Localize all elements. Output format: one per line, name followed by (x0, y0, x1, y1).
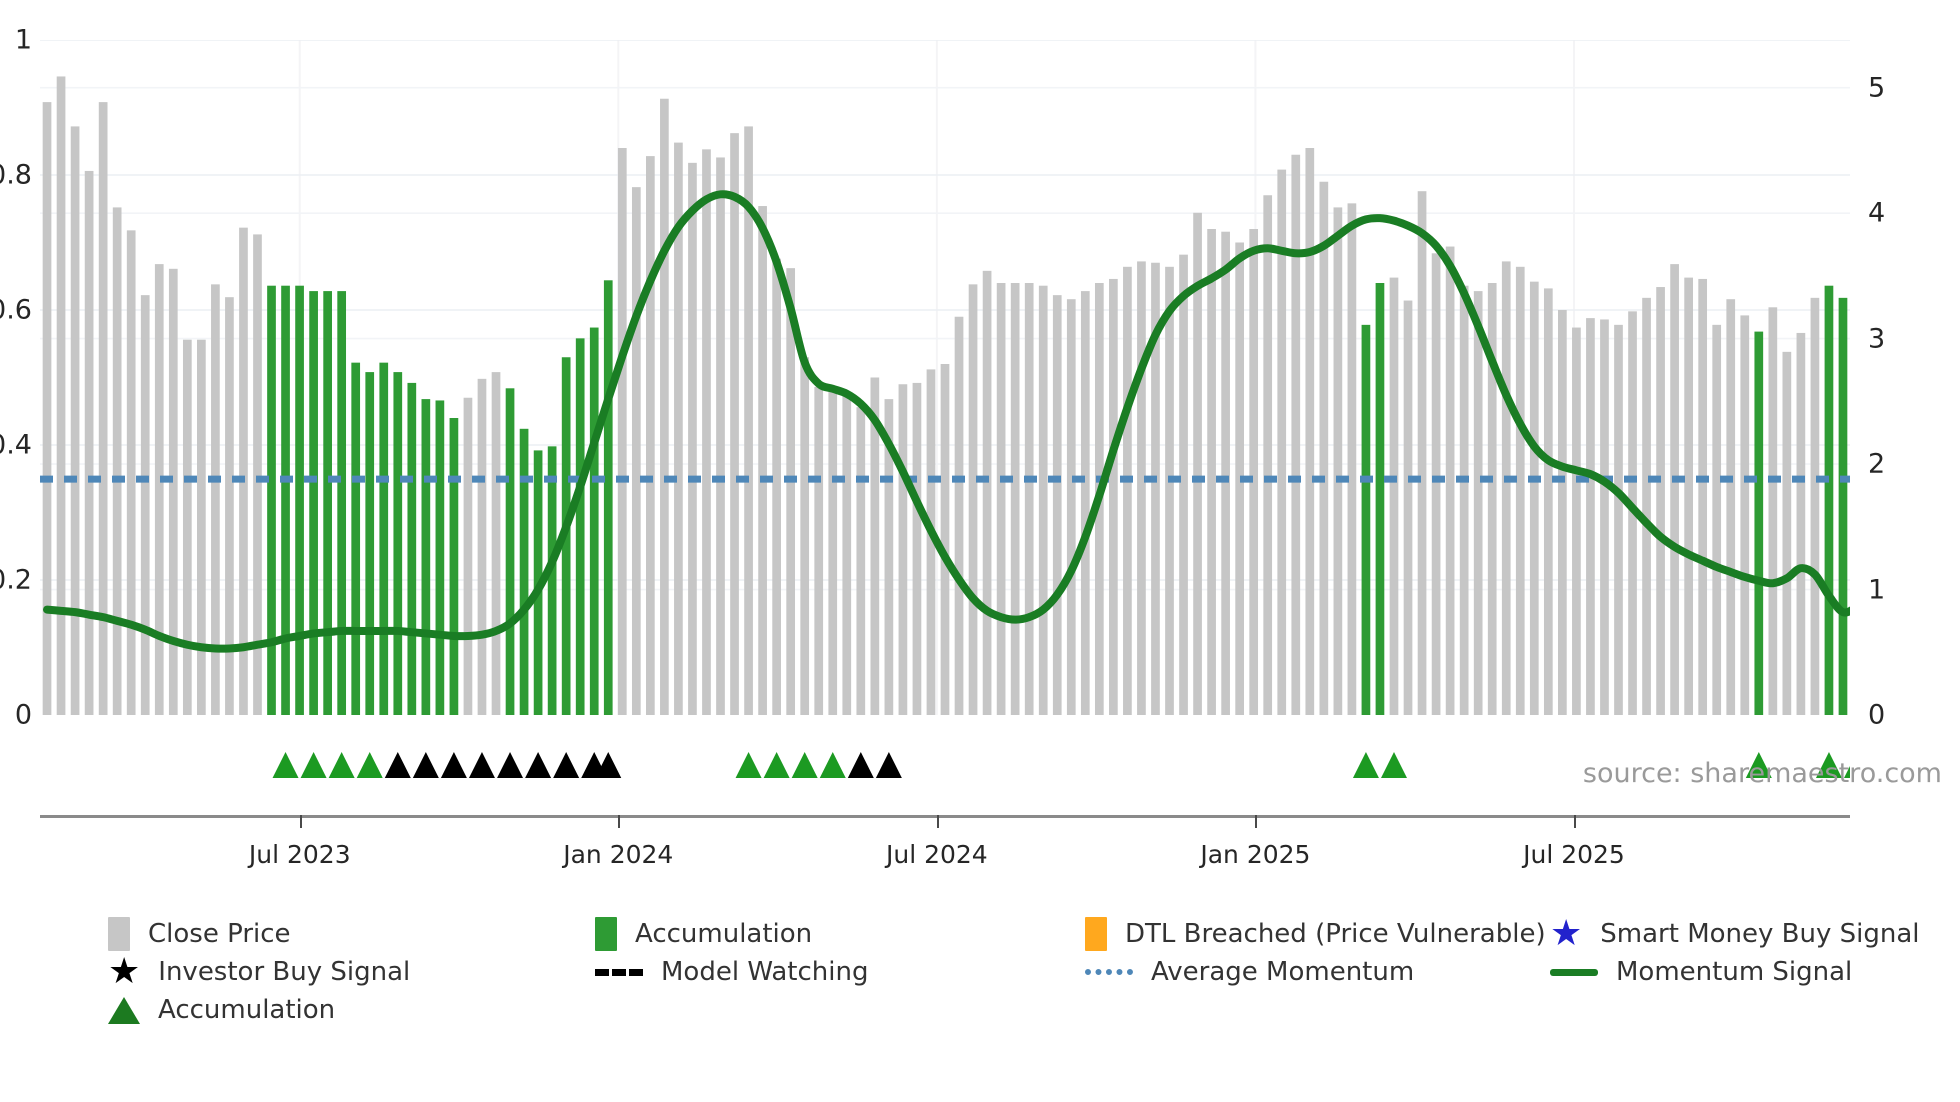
close-price-bar (1740, 315, 1749, 715)
close-price-bar (1460, 286, 1469, 715)
close-price-bar (730, 133, 739, 715)
right-axis-tick-label: 1 (1868, 574, 1885, 605)
close-price-bar (1544, 288, 1553, 715)
right-axis-tick-label: 4 (1868, 198, 1885, 229)
close-price-bar (239, 228, 248, 715)
accumulation-bar (576, 338, 585, 715)
close-price-bar (1025, 283, 1034, 715)
close-price-bar (1726, 299, 1735, 715)
accumulation-bar (1754, 332, 1763, 715)
close-price-bar (1418, 191, 1427, 715)
close-price-bar (141, 295, 150, 715)
close-price-bars (43, 76, 1848, 715)
investor-buy-signal-marker (876, 752, 902, 778)
legend-swatch-star-icon: ★ (1550, 919, 1582, 949)
close-price-bar (688, 163, 697, 715)
close-price-bar (478, 379, 487, 715)
close-price-bar (1179, 255, 1188, 715)
close-price-bar (1109, 279, 1118, 715)
accumulation-bar (393, 372, 402, 715)
left-axis-tick-label: 1 (15, 25, 32, 56)
accumulation-bar (590, 328, 599, 715)
legend-item-accumulation[interactable]: Accumulation (108, 991, 335, 1029)
close-price-bar (758, 206, 767, 715)
investor-buy-signal-marker (848, 752, 874, 778)
investor-buy-signal-marker (413, 752, 439, 778)
accumulation-triangle-marker (1353, 752, 1379, 778)
legend-item-label: Accumulation (635, 919, 812, 949)
accumulation-bar (407, 383, 416, 715)
accumulation-bar (1362, 325, 1371, 715)
accumulation-bar (604, 280, 613, 715)
accumulation-triangle-marker (273, 752, 299, 778)
close-price-bar (1768, 307, 1777, 715)
close-price-bar (1586, 318, 1595, 715)
chart-plot-area (40, 40, 1850, 715)
accumulation-triangle-marker (820, 752, 846, 778)
legend-swatch-bar-icon (595, 917, 617, 951)
legend-swatch-triangle-icon (108, 997, 140, 1024)
accumulation-bar (295, 286, 304, 715)
legend-item-model-watching[interactable]: Model Watching (595, 953, 868, 991)
x-axis-tick (300, 815, 302, 828)
left-axis-tick-label: 0.4 (0, 430, 32, 461)
close-price-bar (71, 126, 80, 715)
close-price-bar (969, 284, 978, 715)
investor-buy-signal-marker (553, 752, 579, 778)
close-price-bar (1081, 291, 1090, 715)
legend-swatch-bar-icon (1085, 917, 1107, 951)
close-price-bar (1811, 298, 1820, 715)
accumulation-bar (422, 399, 431, 715)
x-axis-tick (1574, 815, 1576, 828)
close-price-bar (492, 372, 501, 715)
legend-swatch-bar-icon (108, 917, 130, 951)
legend-item-label: Smart Money Buy Signal (1600, 919, 1919, 949)
legend-item-close-price[interactable]: Close Price (108, 915, 291, 953)
investor-buy-signal-marker (525, 752, 551, 778)
close-price-bar (1221, 232, 1230, 715)
close-price-bar (646, 156, 655, 715)
close-price-bar (828, 387, 837, 715)
accumulation-bar (337, 291, 346, 715)
legend-item-label: Model Watching (661, 957, 868, 987)
legend-item-smart-money-buy-signal[interactable]: ★Smart Money Buy Signal (1550, 915, 1920, 953)
accumulation-bar (323, 291, 332, 715)
right-axis-tick-label: 3 (1868, 323, 1885, 354)
close-price-bar (464, 398, 473, 715)
close-price-bar (1263, 195, 1272, 715)
legend-item-label: Close Price (148, 919, 291, 949)
close-price-bar (1319, 182, 1328, 715)
close-price-bar (772, 259, 781, 715)
left-axis-tick-label: 0 (15, 700, 32, 731)
investor-buy-signal-marker (441, 752, 467, 778)
close-price-bar (997, 283, 1006, 715)
close-price-bar (127, 230, 136, 715)
close-price-bar (983, 271, 992, 715)
x-axis-tick-label: Jan 2025 (1200, 840, 1310, 869)
close-price-bar (1698, 279, 1707, 715)
legend-item-dtl-breached-price-vulnerable[interactable]: DTL Breached (Price Vulnerable) (1085, 915, 1546, 953)
legend-swatch-star-icon: ★ (108, 957, 140, 987)
legend-item-momentum-signal[interactable]: Momentum Signal (1550, 953, 1852, 991)
legend-item-label: Momentum Signal (1616, 957, 1852, 987)
legend-item-label: Average Momentum (1151, 957, 1414, 987)
left-axis-tick-label: 0.8 (0, 160, 32, 191)
close-price-bar (169, 269, 178, 715)
close-price-bar (1600, 319, 1609, 715)
close-price-bar (1502, 261, 1511, 715)
x-axis-tick-label: Jul 2024 (886, 840, 988, 869)
close-price-bar (1011, 283, 1020, 715)
close-price-bar (1067, 299, 1076, 715)
close-price-bar (1797, 333, 1806, 715)
legend-row: ★Investor Buy SignalModel WatchingAverag… (0, 953, 1960, 991)
left-axis-tick-label: 0.6 (0, 295, 32, 326)
close-price-bar (1558, 310, 1567, 715)
close-price-bar (1684, 278, 1693, 715)
close-price-bar (1642, 298, 1651, 715)
close-price-bar (1516, 267, 1525, 715)
chart-legend: Close PriceAccumulationDTL Breached (Pri… (0, 915, 1960, 1029)
investor-buy-signal-marker (497, 752, 523, 778)
close-price-bar (1053, 295, 1062, 715)
right-axis-tick-label: 0 (1868, 700, 1885, 731)
close-price-bar (1305, 148, 1314, 715)
close-price-bar (1390, 278, 1399, 715)
close-price-bar (1530, 282, 1539, 715)
close-price-bar (57, 76, 66, 715)
accumulation-triangle-marker (1381, 752, 1407, 778)
close-price-bar (1137, 261, 1146, 715)
x-axis-tick (937, 815, 939, 828)
close-price-bar (1207, 229, 1216, 715)
close-price-bar (1334, 207, 1343, 715)
x-axis-line (40, 815, 1850, 818)
accumulation-bar (1825, 286, 1834, 715)
close-price-bar (113, 207, 122, 715)
accumulation-bar (548, 446, 557, 715)
close-price-bar (1123, 267, 1132, 715)
close-price-bar (1348, 203, 1357, 715)
close-price-bar (1249, 229, 1258, 715)
investor-buy-signal-marker (469, 752, 495, 778)
accumulation-bar (506, 388, 515, 715)
legend-swatch-dashed-line-icon (595, 969, 643, 976)
source-attribution: source: sharemaestro.com (1583, 758, 1942, 789)
close-price-bar (1670, 264, 1679, 715)
legend-item-label: Investor Buy Signal (158, 957, 410, 987)
legend-row: Close PriceAccumulationDTL Breached (Pri… (0, 915, 1960, 953)
close-price-bar (1783, 352, 1792, 715)
legend-row: Accumulation (0, 991, 1960, 1029)
accumulation-bar (436, 400, 445, 715)
legend-item-label: Accumulation (158, 995, 335, 1025)
close-price-bar (1404, 301, 1413, 715)
chart-page: 00.20.40.60.81 012345 Jul 2023Jan 2024Ju… (0, 0, 1960, 1102)
x-axis-tick (1255, 815, 1257, 828)
close-price-bar (85, 171, 94, 715)
right-axis-tick-label: 5 (1868, 72, 1885, 103)
close-price-bar (1039, 286, 1048, 715)
close-price-bar (941, 364, 950, 715)
legend-item-average-momentum[interactable]: Average Momentum (1085, 953, 1414, 991)
accumulation-triangle-marker (329, 752, 355, 778)
close-price-bar (1572, 328, 1581, 715)
close-price-bar (1712, 325, 1721, 715)
close-price-bar (955, 317, 964, 715)
close-price-bar (716, 157, 725, 715)
legend-item-accumulation[interactable]: Accumulation (595, 915, 812, 953)
close-price-bar (1656, 287, 1665, 715)
x-axis-tick (618, 815, 620, 828)
accumulation-bar (520, 429, 529, 715)
accumulation-bar (450, 418, 459, 715)
legend-item-investor-buy-signal[interactable]: ★Investor Buy Signal (108, 953, 410, 991)
close-price-bar (1446, 247, 1455, 715)
accumulation-marker-row (40, 744, 1850, 784)
accumulation-triangle-marker (736, 752, 762, 778)
close-price-bar (856, 407, 865, 715)
close-price-bar (1614, 325, 1623, 715)
accumulation-bar (281, 286, 290, 715)
legend-swatch-dotted-line-icon (1085, 969, 1133, 975)
close-price-bar (1474, 291, 1483, 715)
accumulation-triangle-marker (792, 752, 818, 778)
close-price-bar (899, 384, 908, 715)
accumulation-triangle-marker (764, 752, 790, 778)
right-axis-tick-label: 2 (1868, 449, 1885, 480)
x-axis-tick-label: Jan 2024 (563, 840, 673, 869)
close-price-bar (660, 99, 669, 715)
x-axis-tick-label: Jul 2023 (249, 840, 351, 869)
x-axis-tick-label: Jul 2025 (1523, 840, 1625, 869)
close-price-bar (1165, 267, 1174, 715)
close-price-bar (1291, 155, 1300, 715)
investor-buy-signal-marker (385, 752, 411, 778)
close-price-bar (800, 357, 809, 715)
accumulation-triangle-marker (357, 752, 383, 778)
close-price-bar (43, 102, 52, 715)
close-price-bar (618, 148, 627, 715)
close-price-bar (702, 149, 711, 715)
accumulation-bar (365, 372, 374, 715)
accumulation-bar (1376, 283, 1385, 715)
close-price-bar (814, 387, 823, 715)
close-price-bar (99, 102, 108, 715)
close-price-bar (632, 187, 641, 715)
accumulation-bar (267, 286, 276, 715)
close-price-bar (1432, 253, 1441, 715)
accumulation-bar (351, 363, 360, 715)
legend-item-label: DTL Breached (Price Vulnerable) (1125, 919, 1546, 949)
accumulation-bar (309, 291, 318, 715)
close-price-bar (197, 340, 206, 715)
left-axis-tick-label: 0.2 (0, 565, 32, 596)
close-price-bar (913, 383, 922, 715)
close-price-bar (155, 264, 164, 715)
accumulation-triangle-marker (301, 752, 327, 778)
accumulation-bar (379, 363, 388, 715)
legend-swatch-line-icon (1550, 969, 1598, 976)
accumulation-bar (1839, 298, 1848, 715)
chart-canvas (40, 40, 1850, 715)
close-price-bar (183, 340, 192, 715)
close-price-bar (842, 392, 851, 715)
